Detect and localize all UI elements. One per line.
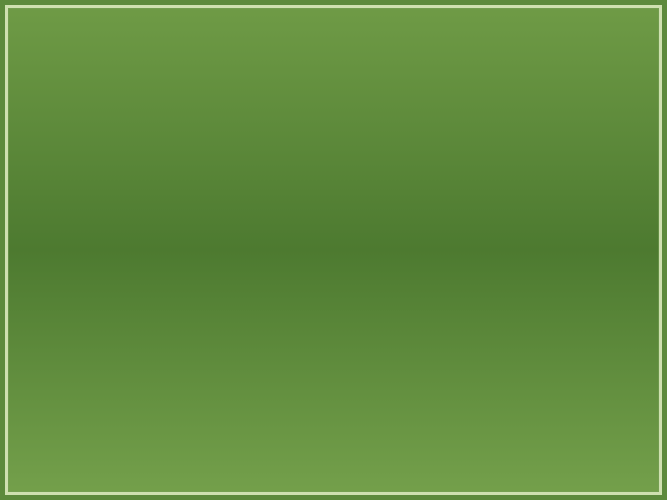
body-line: 略，下令修筑长城。现在我们看到的	[38, 267, 631, 314]
course-label: 四年级语文上册	[12, 9, 131, 31]
slide-root: 四年级语文上册 第17课长城 长城简介 长城是中华民族的象征，是我们 伟大祖国的…	[0, 0, 667, 500]
body-line: 长城东起山海关，西至嘉峪关，蜿蜒	[38, 314, 631, 361]
body-line: 秦始皇统一中国后，为了抵御外来侵	[38, 220, 631, 267]
body-line: 伟大祖国的象征。两千一百多年前，	[38, 173, 631, 220]
slide-title: 长城简介	[0, 56, 667, 106]
body-paragraph: 长城是中华民族的象征，是我们 伟大祖国的象征。两千一百多年前， 秦始皇统一中国后…	[38, 126, 631, 408]
body-line: 长城是中华民族的象征，是我们	[38, 126, 631, 173]
body-line: 一万两千余里。	[38, 361, 631, 408]
lesson-label: 第17课长城	[563, 9, 655, 31]
